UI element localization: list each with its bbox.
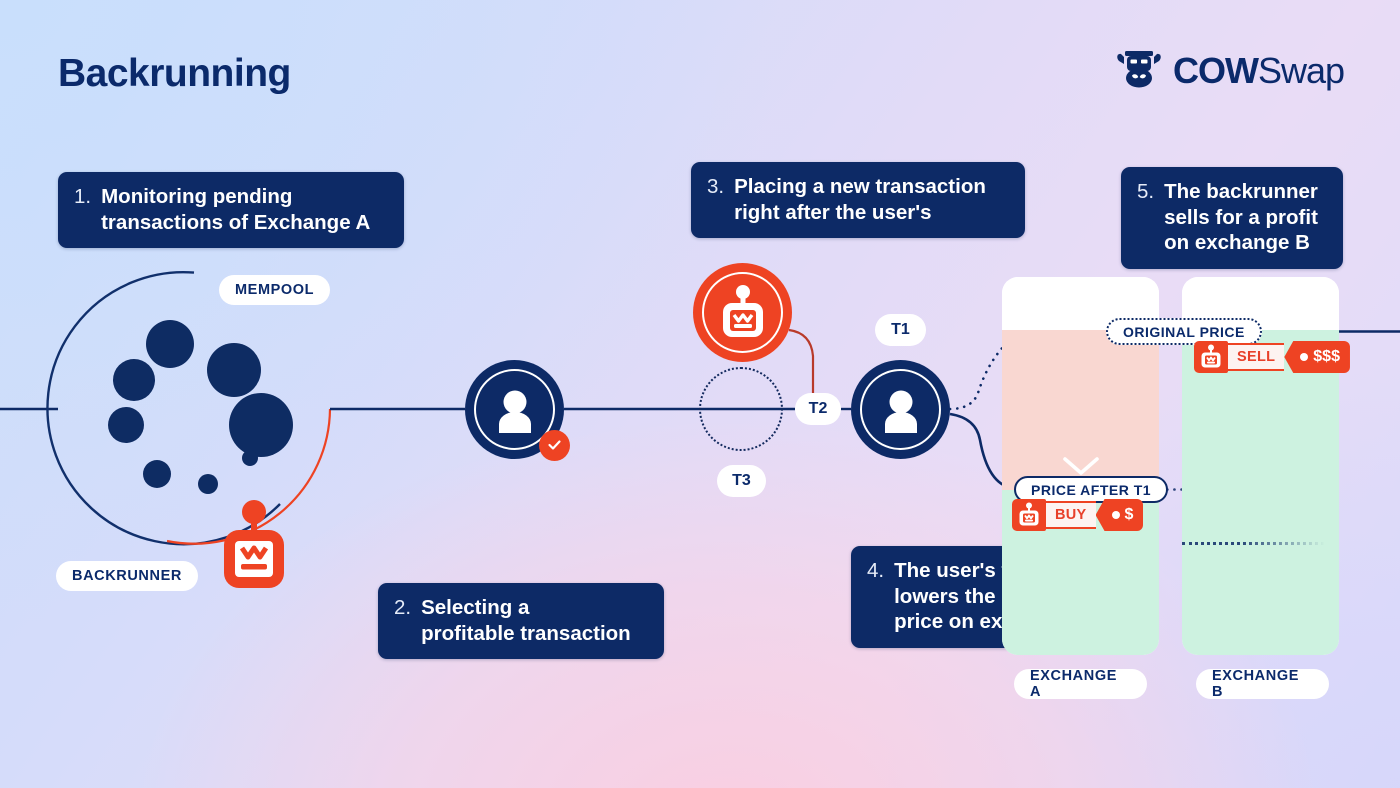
- step-text: Monitoring pending transactions of Excha…: [101, 184, 370, 235]
- exchange-b-reference-line: [1182, 542, 1331, 545]
- step-number: 4.: [867, 558, 884, 635]
- mempool-transaction-dot: [146, 320, 194, 368]
- mempool-transaction-dot: [242, 450, 258, 466]
- cow-head-icon: [1116, 47, 1162, 94]
- step-label-5: 5. The backrunner sells for a profit on …: [1121, 167, 1343, 269]
- backrunner-bot-icon: [218, 500, 290, 599]
- step-number: 3.: [707, 174, 724, 225]
- empty-transaction-slot-t3: [699, 367, 783, 451]
- backrunner-transaction-node[interactable]: [693, 263, 792, 362]
- step-label-3: 3. Placing a new transaction right after…: [691, 162, 1025, 238]
- exchange-a-label: EXCHANGE A: [1014, 669, 1147, 699]
- exchange-b-label: EXCHANGE B: [1196, 669, 1329, 699]
- buy-price-value-tag: $: [1096, 499, 1144, 531]
- exchange-a-price-drop-band: [1002, 330, 1159, 490]
- selected-user-avatar[interactable]: [465, 360, 564, 459]
- mempool-transaction-dot: [143, 460, 171, 488]
- bot-icon: [1012, 499, 1046, 531]
- diagram-canvas: Backrunning COWSwap 1. Monitoring pendin…: [0, 0, 1400, 788]
- mempool-transaction-dot: [229, 393, 293, 457]
- tag-hole: [1300, 353, 1308, 361]
- mempool-transaction-dot: [108, 407, 144, 443]
- buy-action-label: BUY: [1046, 501, 1096, 529]
- mempool-transaction-dot: [207, 343, 261, 397]
- mempool-label: MEMPOOL: [219, 275, 330, 305]
- step-text: Placing a new transaction right after th…: [734, 174, 986, 225]
- page-title: Backrunning: [58, 52, 291, 96]
- cowswap-logo: COWSwap: [1116, 47, 1344, 94]
- label-t3: T3: [717, 465, 766, 497]
- logo-cow-text: COW: [1173, 50, 1258, 91]
- step-number: 1.: [74, 184, 91, 235]
- label-t1: T1: [875, 314, 926, 346]
- logo-wordmark: COWSwap: [1173, 53, 1344, 89]
- sell-price-tag: SELL $$$: [1194, 341, 1350, 373]
- avatar-ring: [702, 272, 783, 353]
- tag-hole: [1112, 511, 1120, 519]
- bot-icon: [1194, 341, 1228, 373]
- step-number: 2.: [394, 595, 411, 646]
- logo-swap-text: Swap: [1258, 50, 1344, 91]
- buy-price-tag: BUY $: [1012, 499, 1143, 531]
- backrunner-label: BACKRUNNER: [56, 561, 198, 591]
- mempool-transaction-dot: [198, 474, 218, 494]
- user-transaction-node[interactable]: [851, 360, 950, 459]
- step-label-1: 1. Monitoring pending transactions of Ex…: [58, 172, 404, 248]
- mempool-transaction-dot: [113, 359, 155, 401]
- step-number: 5.: [1137, 179, 1154, 256]
- label-t2: T2: [795, 393, 841, 425]
- exchange-b-price-band: [1182, 330, 1339, 655]
- step-text: The backrunner sells for a profit on exc…: [1164, 179, 1318, 256]
- check-icon: [546, 437, 563, 454]
- avatar-ring: [860, 369, 941, 450]
- chevron-down-icon: [1062, 455, 1100, 477]
- sell-price-value-tag: $$$: [1284, 341, 1350, 373]
- step-label-2: 2. Selecting a profitable transaction: [378, 583, 664, 659]
- sell-action-label: SELL: [1228, 343, 1284, 371]
- selected-check-badge: [539, 430, 570, 461]
- sell-price-value: $$$: [1313, 348, 1340, 366]
- step-text: Selecting a profitable transaction: [421, 595, 631, 646]
- buy-price-value: $: [1125, 506, 1134, 524]
